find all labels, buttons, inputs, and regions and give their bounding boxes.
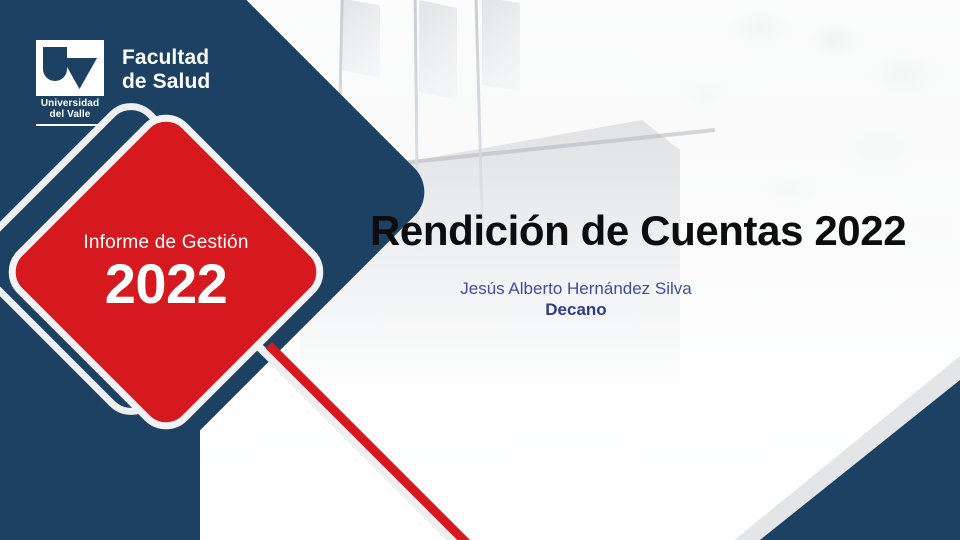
presentation-slide: Informe de Gestión 2022 Universidad del …: [0, 0, 960, 540]
background-flag: [342, 0, 380, 77]
report-badge: Informe de Gestión 2022: [46, 152, 286, 392]
badge-year: 2022: [105, 256, 228, 312]
background-flag: [419, 0, 457, 100]
faculty-name: Facultad de Salud: [122, 40, 210, 95]
speaker-role: Decano: [370, 299, 782, 320]
university-name: Universidad del Valle: [36, 99, 104, 121]
logo-underline-rule: [36, 124, 104, 126]
logo-u-shape: [43, 47, 67, 81]
background-flag: [482, 0, 520, 91]
logo-v-shape: [62, 58, 97, 89]
title-block: Rendición de Cuentas 2022 Jesús Alberto …: [370, 208, 930, 321]
univalle-logo-mark: [36, 40, 104, 96]
badge-caption: Informe de Gestión: [83, 233, 248, 252]
speaker-name: Jesús Alberto Hernández Silva: [370, 278, 782, 299]
univalle-logo-icon: Universidad del Valle: [36, 40, 104, 126]
page-title: Rendición de Cuentas 2022: [370, 208, 930, 254]
subtitle-block: Jesús Alberto Hernández Silva Decano: [370, 278, 782, 321]
brand-lockup: Universidad del Valle Facultad de Salud: [36, 40, 210, 126]
navy-panel-fill-bottom: [0, 420, 200, 540]
